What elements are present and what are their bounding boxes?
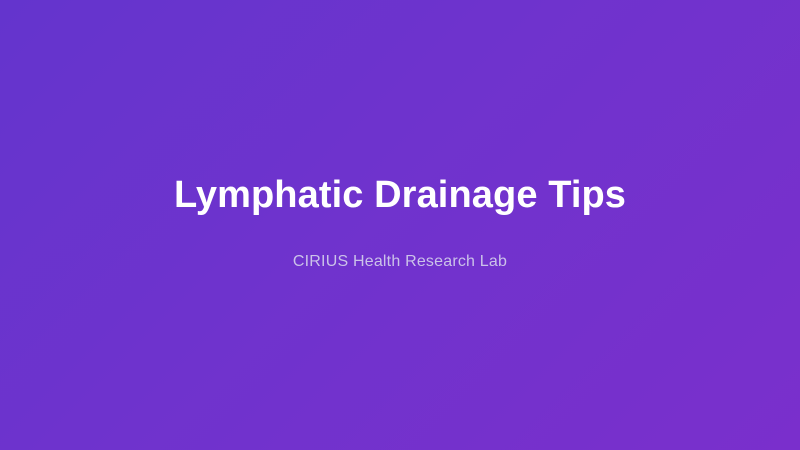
slide-content: Lymphatic Drainage Tips CIRIUS Health Re…: [0, 0, 800, 450]
slide-subtitle: CIRIUS Health Research Lab: [0, 252, 800, 272]
title-slide: Lymphatic Drainage Tips CIRIUS Health Re…: [0, 0, 800, 450]
page-title: Lymphatic Drainage Tips: [0, 172, 800, 218]
